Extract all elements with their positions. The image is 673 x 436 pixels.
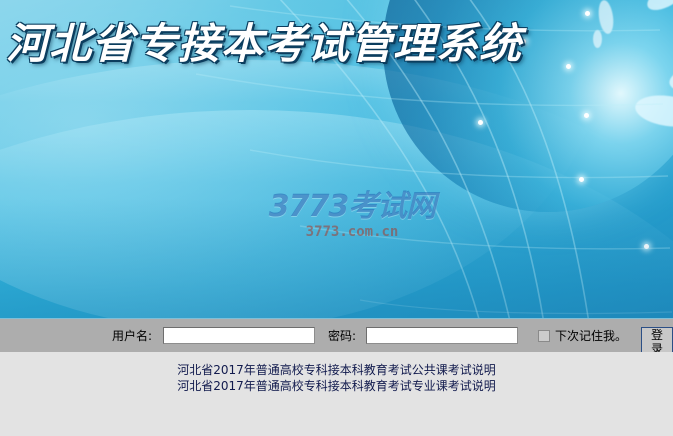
watermark: 3773考试网 3773.com.cn <box>262 192 442 239</box>
remember-me-checkbox[interactable] <box>538 330 550 342</box>
link-public-course-exam-guide[interactable]: 河北省2017年普通高校专科接本科教育考试公共课考试说明 <box>0 362 673 378</box>
globe-landmass <box>633 92 673 131</box>
page-title: 河北省专接本考试管理系统 <box>6 10 522 71</box>
watermark-url-text: 3773.com.cn <box>262 225 442 239</box>
globe-landmass <box>577 0 646 1</box>
globe-landmass <box>643 0 673 16</box>
password-input[interactable] <box>366 327 518 344</box>
globe-landmass <box>593 30 602 48</box>
globe-landmass <box>667 63 673 94</box>
footer: 河北省2017年普通高校专科接本科教育考试公共课考试说明 河北省2017年普通高… <box>0 352 673 436</box>
remember-me-label: 下次记住我。 <box>555 327 627 344</box>
link-major-course-exam-guide[interactable]: 河北省2017年普通高校专科接本科教育考试专业课考试说明 <box>0 378 673 394</box>
banner-curve-highlight <box>0 110 673 318</box>
globe-node-dot <box>584 113 589 118</box>
banner-curve-highlight-upper <box>0 60 673 318</box>
username-label: 用户名: <box>112 327 152 344</box>
banner-bottom-shade <box>0 198 673 318</box>
globe-landmass <box>597 0 616 35</box>
password-label: 密码: <box>328 327 356 344</box>
header-banner: 河北省专接本考试管理系统 3773考试网 3773.com.cn <box>0 0 673 318</box>
globe-node-dot <box>579 177 584 182</box>
login-bar: 用户名: 密码: 下次记住我。 登录 <box>0 318 673 352</box>
document-links: 河北省2017年普通高校专科接本科教育考试公共课考试说明 河北省2017年普通高… <box>0 362 673 394</box>
watermark-main-text: 3773考试网 <box>262 192 442 222</box>
globe-node-dot <box>644 244 649 249</box>
username-input[interactable] <box>163 327 315 344</box>
globe-node-dot <box>478 120 483 125</box>
login-page: 河北省专接本考试管理系统 3773考试网 3773.com.cn 用户名: 密码… <box>0 0 673 436</box>
globe-node-dot <box>566 64 571 69</box>
globe-node-dot <box>585 11 590 16</box>
